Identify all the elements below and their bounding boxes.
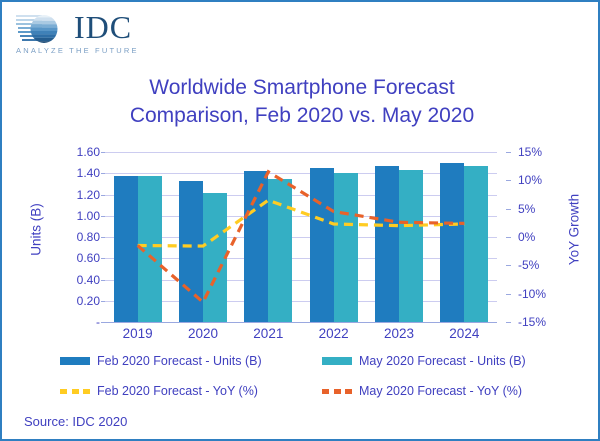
chart-title-line-2: Comparison, Feb 2020 vs. May 2020 (2, 102, 600, 130)
y-axis-right-title-box: YoY Growth (554, 152, 594, 322)
y-axis-right-tick-label: 10% (518, 173, 542, 187)
y-axis-right-ticks: -15%-10%-5%0%5%10%15% (504, 152, 552, 322)
idc-wordmark: IDC (74, 8, 132, 46)
y-axis-right-tick-label: 5% (518, 202, 535, 216)
trend-line (138, 172, 465, 302)
y-axis-right-tick-mark (506, 322, 511, 323)
legend-item[interactable]: Feb 2020 Forecast - Units (B) (60, 354, 262, 368)
y-axis-right-tick-mark (506, 237, 511, 238)
legend-label: Feb 2020 Forecast - YoY (%) (97, 384, 258, 398)
legend-item[interactable]: May 2020 Forecast - Units (B) (322, 354, 526, 368)
y-axis-left-tick-label: 1.60 (77, 145, 100, 159)
y-axis-left-title: Units (B) (29, 150, 44, 310)
y-axis-right-tick-label: 0% (518, 230, 535, 244)
y-axis-left-tick-label: 0.40 (77, 273, 100, 287)
y-axis-left-tick-label: 1.20 (77, 188, 100, 202)
gridline (105, 322, 497, 323)
y-axis-right-tick-mark (506, 180, 511, 181)
source-note: Source: IDC 2020 (24, 414, 127, 429)
legend-dash-icon (60, 389, 90, 394)
idc-tagline: ANALYZE THE FUTURE (16, 46, 139, 55)
y-axis-right-tick-label: -10% (518, 287, 546, 301)
chart-title-line-1: Worldwide Smartphone Forecast (2, 74, 600, 102)
x-axis-tick-label: 2021 (236, 326, 301, 341)
chart-title: Worldwide Smartphone Forecast Comparison… (2, 74, 600, 130)
x-axis-labels: 201920202021202220232024 (105, 326, 497, 346)
x-axis-tick-label: 2023 (366, 326, 431, 341)
lines-layer (105, 152, 497, 322)
y-axis-right-tick-label: -15% (518, 315, 546, 329)
legend-label: May 2020 Forecast - Units (B) (359, 354, 526, 368)
legend-item[interactable]: Feb 2020 Forecast - YoY (%) (60, 384, 258, 398)
y-axis-left-tick-label: 0.20 (77, 294, 100, 308)
y-axis-right-tick-mark (506, 294, 511, 295)
y-axis-left-tick-label: 0.60 (77, 251, 100, 265)
x-axis-tick-label: 2019 (105, 326, 170, 341)
legend-item[interactable]: May 2020 Forecast - YoY (%) (322, 384, 522, 398)
legend-label: Feb 2020 Forecast - Units (B) (97, 354, 262, 368)
y-axis-right-tick-mark (506, 152, 511, 153)
x-axis-tick-label: 2024 (432, 326, 497, 341)
plot-area: Units (B) -0.200.400.600.801.001.201.401… (2, 142, 600, 342)
idc-logo: IDC ANALYZE THE FUTURE (12, 10, 172, 58)
legend-dash-icon (322, 389, 352, 394)
y-axis-right-tick-label: 15% (518, 145, 542, 159)
legend-swatch-icon (322, 357, 352, 365)
y-axis-left-ticks: -0.200.400.600.801.001.201.401.60 (48, 152, 100, 322)
legend-label: May 2020 Forecast - YoY (%) (359, 384, 522, 398)
y-axis-right-tick-label: -5% (518, 258, 539, 272)
y-axis-left-tick-label: - (96, 315, 100, 329)
chart-page: IDC ANALYZE THE FUTURE Worldwide Smartph… (0, 0, 600, 441)
y-axis-left-tick-label: 0.80 (77, 230, 100, 244)
chart-legend: Feb 2020 Forecast - Units (B)May 2020 Fo… (2, 354, 600, 406)
y-axis-right-tick-mark (506, 209, 511, 210)
plot-canvas (105, 152, 497, 322)
y-axis-left-tick-label: 1.00 (77, 209, 100, 223)
y-axis-right-title: YoY Growth (567, 150, 582, 310)
y-axis-left-tick-label: 1.40 (77, 166, 100, 180)
idc-globe-icon (16, 12, 68, 46)
legend-swatch-icon (60, 357, 90, 365)
x-axis-tick-label: 2022 (301, 326, 366, 341)
x-axis-tick-label: 2020 (170, 326, 235, 341)
y-axis-right-tick-mark (506, 265, 511, 266)
